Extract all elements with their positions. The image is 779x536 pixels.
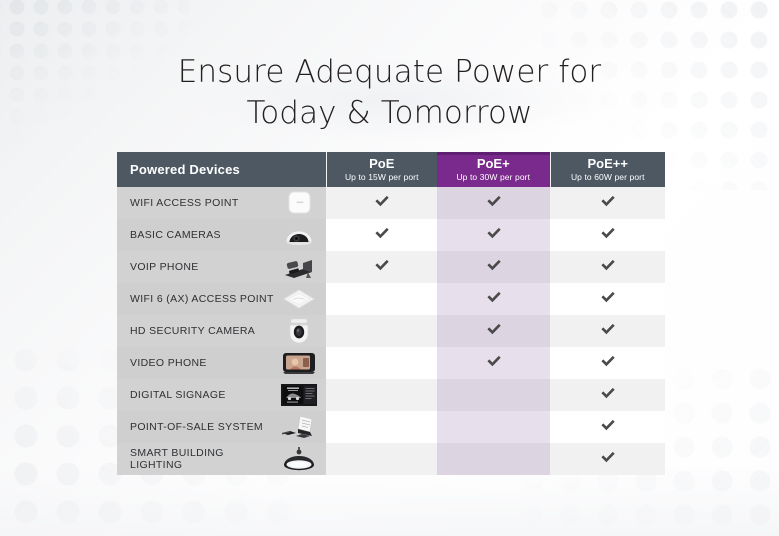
poe-plus-plus-cell (550, 379, 665, 411)
check-icon (599, 224, 617, 242)
poe-plus-plus-cell (550, 251, 665, 283)
background-bottom-band (0, 466, 779, 536)
device-name-cell: VOIP PHONE (117, 251, 326, 283)
poe-plus-plus-cell (550, 283, 665, 315)
check-icon (599, 256, 617, 274)
table-row: VIDEO PHONE (117, 347, 665, 379)
device-label: HD SECURITY CAMERA (130, 325, 255, 337)
column-header-poe-plus: PoE+ Up to 30W per port (437, 152, 550, 187)
poe-plus-cell (437, 219, 550, 251)
table-row: WIFI 6 (AX) ACCESS POINT (117, 283, 665, 315)
device-label: WIFI ACCESS POINT (130, 197, 239, 209)
turret-camera-icon (278, 317, 320, 345)
table-row: POINT-OF-SALE SYSTEM (117, 411, 665, 443)
table-row: SMART BUILDING LIGHTING (117, 443, 665, 475)
poe-plus-cell (437, 347, 550, 379)
device-label: POINT-OF-SALE SYSTEM (130, 421, 263, 433)
point-of-sale-icon (278, 413, 320, 441)
poe-plus-cell (437, 443, 550, 475)
check-icon (485, 224, 503, 242)
check-icon (599, 288, 617, 306)
device-name-cell: VIDEO PHONE (117, 347, 326, 379)
poe-plus-plus-cell (550, 443, 665, 475)
table-row: BASIC CAMERAS (117, 219, 665, 251)
device-name-cell: SMART BUILDING LIGHTING (117, 443, 326, 475)
poe-plus-plus-cell (550, 347, 665, 379)
device-name-cell: DIGITAL SIGNAGE (117, 379, 326, 411)
check-icon (485, 352, 503, 370)
column-header-poe-plus-plus: PoE++ Up to 60W per port (550, 152, 665, 187)
poe-plus-plus-cell (550, 187, 665, 219)
device-label: WIFI 6 (AX) ACCESS POINT (130, 293, 274, 305)
check-icon (373, 224, 391, 242)
device-name-cell: BASIC CAMERAS (117, 219, 326, 251)
poe-cell (326, 347, 437, 379)
dome-camera-icon (278, 221, 320, 249)
poe-plus-plus-cell (550, 219, 665, 251)
check-icon (599, 352, 617, 370)
table-row: WIFI ACCESS POINT (117, 187, 665, 219)
column-header-title: PoE++ (551, 157, 666, 171)
column-header-subtitle: Up to 60W per port (551, 173, 666, 182)
poe-plus-cell (437, 379, 550, 411)
column-header-subtitle: Up to 30W per port (437, 173, 550, 182)
check-icon (485, 192, 503, 210)
comparison-table: Powered Devices PoE Up to 15W per port P… (117, 152, 665, 475)
poe-cell (326, 219, 437, 251)
check-icon (599, 320, 617, 338)
table-row: DIGITAL SIGNAGE (117, 379, 665, 411)
device-name-cell: WIFI 6 (AX) ACCESS POINT (117, 283, 326, 315)
poe-plus-cell (437, 411, 550, 443)
check-icon (373, 256, 391, 274)
device-label: VIDEO PHONE (130, 357, 207, 369)
check-icon (599, 448, 617, 466)
check-icon (485, 288, 503, 306)
column-header-title: PoE+ (437, 157, 550, 171)
table-header: Powered Devices PoE Up to 15W per port P… (117, 152, 665, 187)
digital-signage-icon (278, 381, 320, 409)
device-name-cell: HD SECURITY CAMERA (117, 315, 326, 347)
column-header-poe: PoE Up to 15W per port (326, 152, 437, 187)
check-icon (599, 384, 617, 402)
column-header-subtitle: Up to 15W per port (327, 173, 438, 182)
poe-cell (326, 251, 437, 283)
poe-cell (326, 283, 437, 315)
device-label: SMART BUILDING LIGHTING (130, 447, 224, 471)
table-row: VOIP PHONE (117, 251, 665, 283)
high-bay-light-icon (278, 445, 320, 473)
voip-phone-icon (278, 253, 320, 281)
check-icon (485, 320, 503, 338)
slide-canvas: Ensure Adequate Power for Today & Tomorr… (0, 0, 779, 536)
poe-plus-cell (437, 251, 550, 283)
check-icon (373, 192, 391, 210)
column-header-title: PoE (327, 157, 438, 171)
device-name-cell: WIFI ACCESS POINT (117, 187, 326, 219)
poe-cell (326, 443, 437, 475)
poe-cell (326, 379, 437, 411)
poe-cell (326, 315, 437, 347)
device-label: DIGITAL SIGNAGE (130, 389, 226, 401)
table-row: HD SECURITY CAMERA (117, 315, 665, 347)
device-name-cell: POINT-OF-SALE SYSTEM (117, 411, 326, 443)
column-header-title: Powered Devices (130, 162, 240, 177)
poe-plus-plus-cell (550, 315, 665, 347)
table-header-row: Powered Devices PoE Up to 15W per port P… (117, 152, 665, 187)
wifi6-access-point-icon (278, 285, 320, 313)
page-title: Ensure Adequate Power for Today & Tomorr… (0, 52, 779, 134)
video-phone-icon (278, 349, 320, 377)
poe-plus-cell (437, 187, 550, 219)
wifi-access-point-icon (278, 189, 320, 217)
device-label: BASIC CAMERAS (130, 229, 221, 241)
poe-plus-cell (437, 283, 550, 315)
table-body: WIFI ACCESS POINTBASIC CAMERASVOIP PHONE… (117, 187, 665, 475)
check-icon (485, 256, 503, 274)
check-icon (599, 416, 617, 434)
poe-comparison-table: Powered Devices PoE Up to 15W per port P… (117, 152, 665, 475)
device-label: VOIP PHONE (130, 261, 199, 273)
poe-cell (326, 187, 437, 219)
column-header-powered-devices: Powered Devices (117, 152, 326, 187)
poe-plus-plus-cell (550, 411, 665, 443)
poe-cell (326, 411, 437, 443)
poe-plus-cell (437, 315, 550, 347)
check-icon (599, 192, 617, 210)
